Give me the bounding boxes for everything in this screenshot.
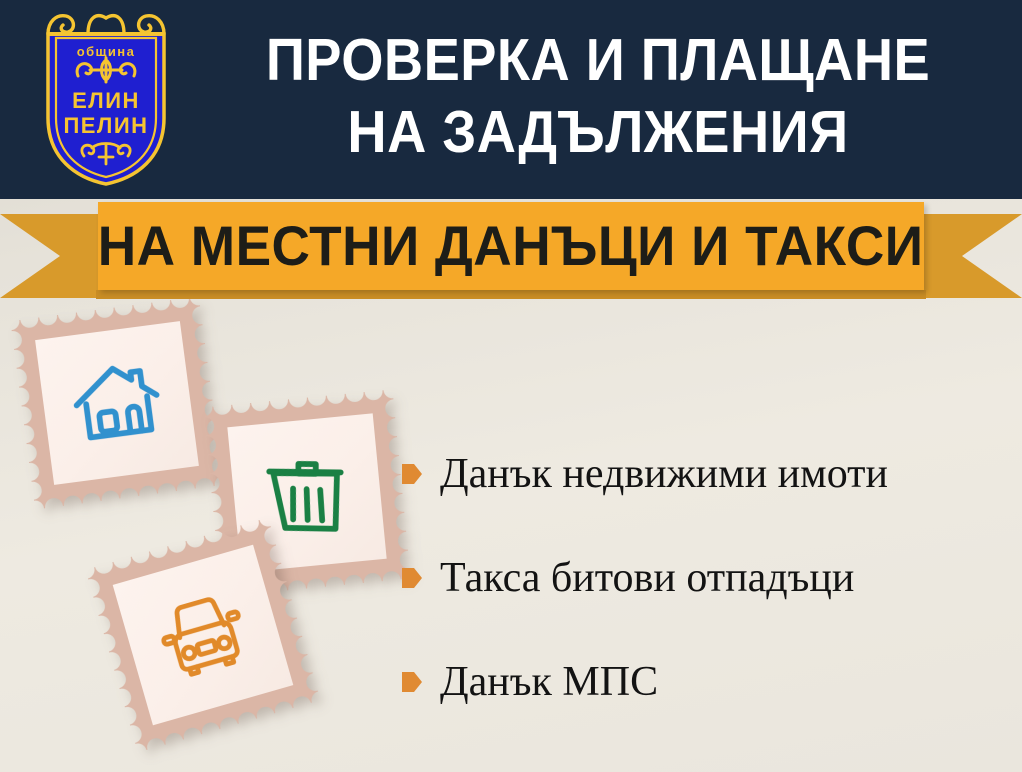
header-bar: община ЕЛИН ПЕЛИН [0,0,1022,199]
municipality-crest-logo: община ЕЛИН ПЕЛИН [26,8,186,188]
poster-title-line-1: ПРОВЕРКА И ПЛАЩАНЕ [224,24,971,96]
stamp-inner-property [35,321,199,485]
tax-type-list: Данък недвижими имоти Такса битови отпад… [402,422,1002,734]
list-item-label: Такса битови отпадъци [440,555,854,601]
poster-title-line-2: НА ЗАДЪЛЖЕНИЯ [224,96,971,168]
crest-name-line-1: ЕЛИН [72,88,140,113]
list-item-label: Данък недвижими имоти [440,451,888,497]
house-icon [63,349,171,457]
stamp-card-property [10,296,223,509]
crest-svg: община ЕЛИН ПЕЛИН [26,8,186,188]
subtitle-ribbon: НА МЕСТНИ ДАНЪЦИ И ТАКСИ [0,198,1022,298]
arrow-bullet-icon [402,463,422,485]
poster-canvas: община ЕЛИН ПЕЛИН [0,0,1022,772]
arrow-bullet-icon [402,671,422,693]
list-item-label: Данък МПС [440,659,658,705]
ribbon-shadow-strip [96,290,926,299]
poster-title: ПРОВЕРКА И ПЛАЩАНЕ НА ЗАДЪЛЖЕНИЯ [192,24,1004,168]
ribbon-text: НА МЕСТНИ ДАНЪЦИ И ТАКСИ [98,218,924,274]
arrow-bullet-icon [402,567,422,589]
crest-name-line-2: ПЕЛИН [63,113,148,138]
list-item[interactable]: Данък МПС [402,630,1002,734]
list-item[interactable]: Такса битови отпадъци [402,526,1002,630]
car-front-icon [144,576,263,695]
list-item[interactable]: Данък недвижими имоти [402,422,1002,526]
ribbon-panel: НА МЕСТНИ ДАНЪЦИ И ТАКСИ [98,202,924,290]
